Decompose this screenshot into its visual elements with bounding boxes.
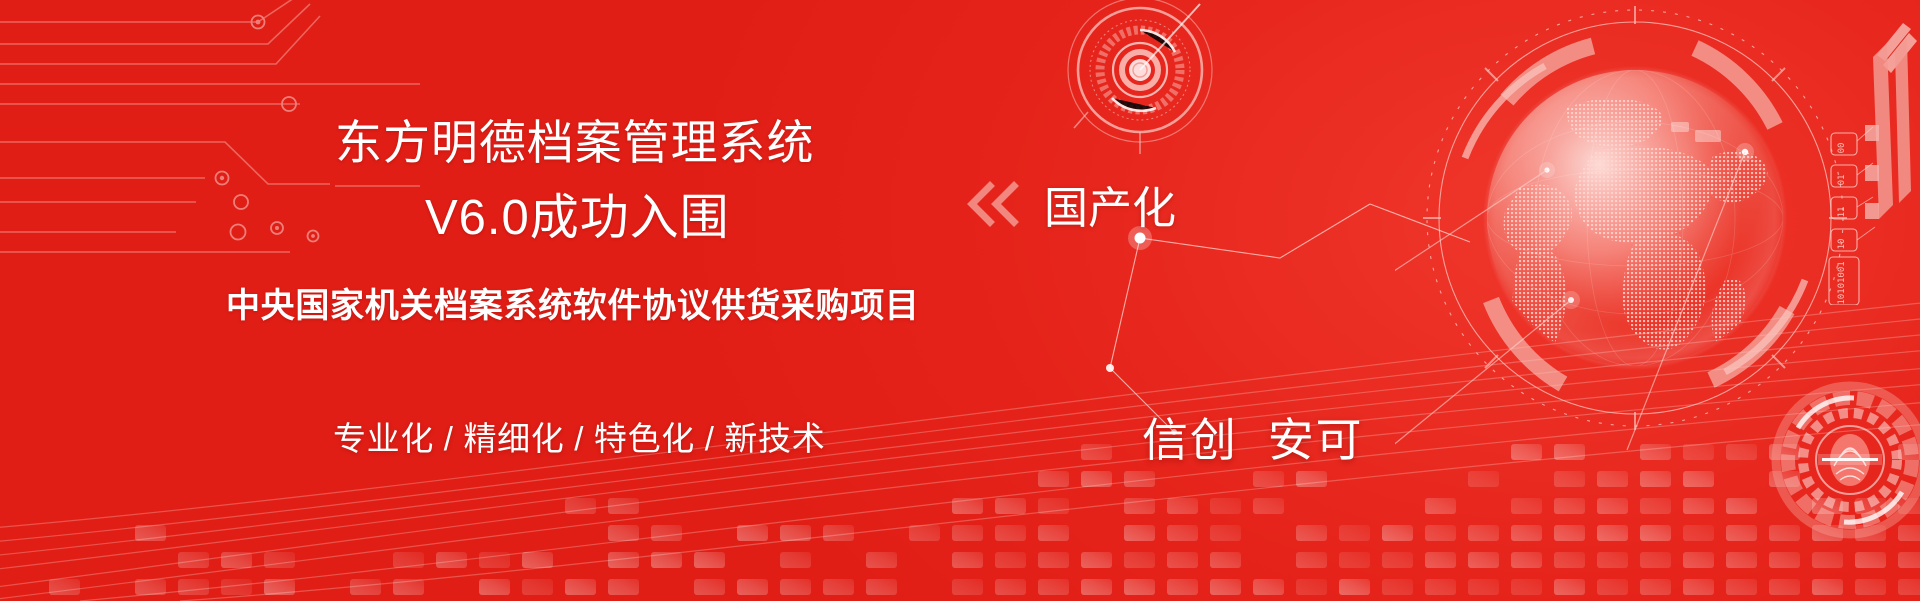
banner-tagline: 专业化 / 精细化 / 特色化 / 新技术 — [333, 412, 825, 460]
promo-banner: 00 01 11 10 10101001 — [0, 0, 1920, 601]
banner-version: V6.0成功入围 — [425, 178, 730, 249]
svg-text:01: 01 — [1837, 175, 1847, 186]
binary-code-panel: 00 01 11 10 10101001 — [1825, 0, 1920, 305]
headline-block: 东方明德档案管理系统 V6.0成功入围 中央国家机关档案系统软件协议供货采购项目… — [0, 0, 1100, 601]
fingerprint-scanner-icon — [1770, 380, 1920, 540]
banner-project: 中央国家机关档案系统软件协议供货采购项目 — [226, 278, 920, 327]
banner-title: 东方明德档案管理系统 — [335, 104, 814, 173]
double-chevron-left-icon — [966, 176, 1022, 232]
localization-badge: 国产化 — [966, 172, 1176, 236]
trust-badge-0: 信创 — [1142, 414, 1238, 466]
svg-text:00: 00 — [1837, 143, 1847, 154]
svg-text:10: 10 — [1837, 239, 1847, 250]
localization-label: 国产化 — [1044, 172, 1176, 236]
trust-badges: 信创安可 — [1142, 404, 1363, 470]
trust-badge-1: 安可 — [1268, 414, 1364, 466]
svg-text:11: 11 — [1837, 207, 1847, 218]
